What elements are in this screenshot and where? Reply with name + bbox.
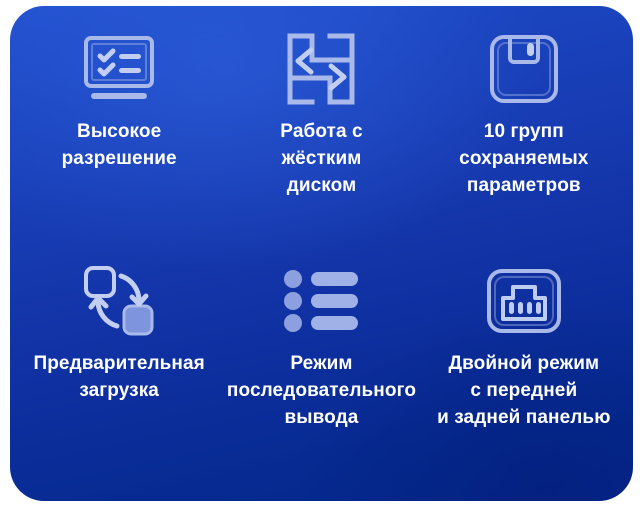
feature-label: Высокое разрешение [62, 118, 177, 172]
feature-card-preload[interactable]: Предварительная загрузка [18, 248, 220, 472]
feature-card-hard-disk[interactable]: Работа с жёстким диском [220, 24, 422, 248]
feature-label: Двойной режим с передней и задней панель… [437, 350, 610, 431]
feature-card-sequential-output[interactable]: Режим последовательного вывода [220, 248, 422, 472]
feature-card-high-resolution[interactable]: Высокое разрешение [18, 24, 220, 248]
bulleted-list-icon [278, 262, 364, 340]
feature-label: Предварительная загрузка [33, 350, 204, 404]
feature-label: Работа с жёстким диском [280, 118, 362, 199]
ethernet-port-icon [481, 262, 567, 340]
feature-card-saved-parameters[interactable]: 10 групп сохраняемых параметров [423, 24, 625, 248]
feature-label: Режим последовательного вывода [227, 350, 416, 431]
features-panel: Высокое разрешение Работа с жёстким диск… [10, 6, 633, 501]
feature-label: 10 групп сохраняемых параметров [459, 118, 588, 199]
hard-disk-transfer-icon [278, 30, 364, 108]
feature-card-dual-mode[interactable]: Двойной режим с передней и задней панель… [423, 248, 625, 472]
features-grid: Высокое разрешение Работа с жёстким диск… [10, 6, 633, 501]
floppy-disk-save-icon [481, 30, 567, 108]
sync-refresh-icon [76, 262, 162, 340]
monitor-checklist-icon [76, 30, 162, 108]
